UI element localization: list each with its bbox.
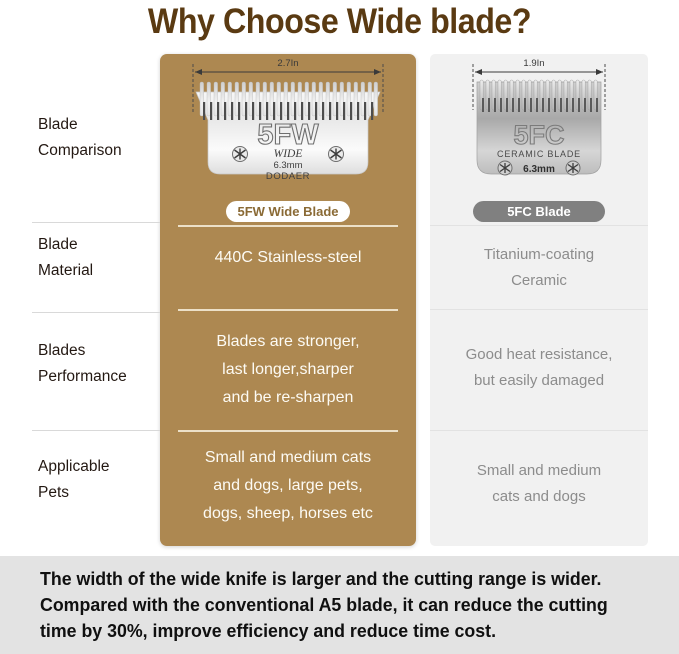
blade-image-5fw: 5FW WIDE 6.3mm DODAER 2.7In [178, 58, 398, 198]
screw-icon [498, 161, 512, 175]
blade-brand-engraving: DODAER [266, 171, 310, 182]
row-divider [32, 312, 160, 313]
badge-5fc-blade: 5FC Blade [473, 201, 605, 222]
brown-row-divider [178, 225, 398, 227]
cell-right-material: Titanium-coating Ceramic [430, 242, 648, 294]
blade-size-engraving: 6.3mm [273, 160, 302, 171]
row-label-blade-material: Blade Material [38, 232, 160, 284]
blade-image-5fc: 5FC CERAMIC BLADE 6.3mm 1.9In [455, 58, 623, 198]
cell-left-pets: Small and medium cats and dogs, large pe… [160, 444, 416, 528]
blade-5fw-svg: 5FW WIDE 6.3mm DODAER [178, 58, 398, 198]
brown-row-divider [178, 309, 398, 311]
screw-icon [329, 147, 344, 162]
comparison-infographic: Why Choose Wide blade? Blade Comparison … [0, 0, 679, 654]
cell-left-performance: Blades are stronger, last longer,sharper… [160, 328, 416, 412]
footer-band: The width of the wide knife is larger an… [0, 556, 679, 654]
badge-5fw-wide-blade: 5FW Wide Blade [226, 201, 350, 222]
row-divider [32, 430, 160, 431]
row-label-column: Blade Comparison Blade Material Blades P… [0, 54, 160, 546]
blade-sublabel-engraving: CERAMIC BLADE [497, 149, 581, 159]
gray-row-divider [430, 430, 648, 431]
cell-right-pets: Small and medium cats and dogs [430, 458, 648, 510]
cell-left-material: 440C Stainless-steel [160, 244, 416, 272]
brown-row-divider [178, 430, 398, 432]
blade-dimension-label: 1.9In [450, 58, 618, 69]
row-label-blades-performance: Blades Performance [38, 338, 160, 390]
row-label-applicable-pets: Applicable Pets [38, 454, 160, 506]
page-title: Why Choose Wide blade? [27, 2, 652, 42]
gray-row-divider [430, 309, 648, 310]
blade-size-engraving: 6.3mm [523, 164, 555, 175]
cell-right-performance: Good heat resistance, but easily damaged [430, 342, 648, 394]
comparison-table: Blade Comparison Blade Material Blades P… [0, 54, 679, 546]
blade-5fc-svg: 5FC CERAMIC BLADE 6.3mm [455, 58, 623, 198]
blade-sublabel-engraving: WIDE [274, 148, 303, 160]
row-label-blade-comparison: Blade Comparison [38, 112, 160, 164]
gray-row-divider [430, 225, 648, 226]
blade-model-engraving: 5FW [257, 119, 319, 151]
blade-dimension-label: 2.7In [178, 58, 398, 69]
screw-icon [566, 161, 580, 175]
blade-model-engraving: 5FC [513, 120, 564, 150]
footer-description: The width of the wide knife is larger an… [40, 566, 626, 644]
screw-icon [233, 147, 248, 162]
row-divider [32, 222, 160, 223]
